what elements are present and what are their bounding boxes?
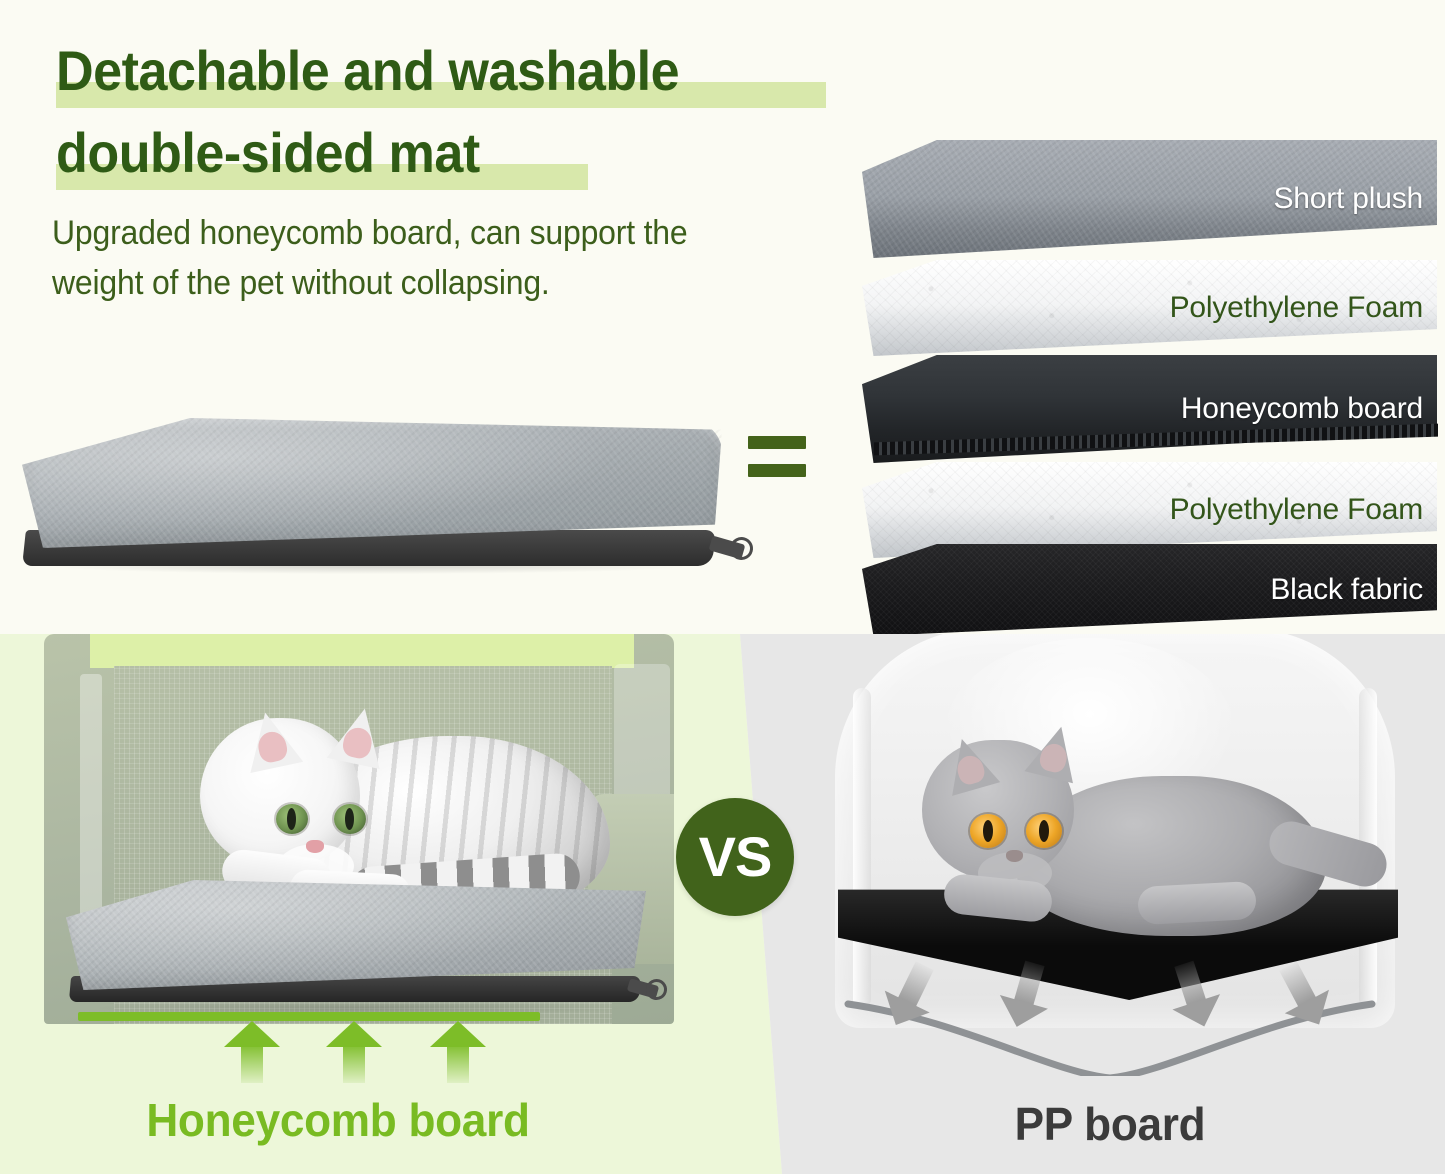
support-line [78, 1012, 540, 1021]
up-arrow-icon [224, 1021, 280, 1083]
cat-rear-leg [1137, 881, 1257, 925]
mat-product-image [14, 400, 734, 590]
equals-sign-icon [748, 436, 808, 478]
arrow-stem [447, 1043, 469, 1083]
up-arrow-icon [326, 1021, 382, 1083]
cat-head [922, 740, 1074, 880]
cat-ear-right [1024, 721, 1085, 784]
layer-stack-diagram: Short plush Polyethylene Foam Honeycomb … [862, 140, 1437, 572]
cat-eye-left [970, 814, 1006, 848]
zipper-ring [727, 534, 755, 562]
cat-nose [306, 840, 324, 853]
sag-indicator-right [840, 986, 1380, 1086]
layer-label-black-fabric: Black fabric [1270, 574, 1423, 606]
cat-eye-right [334, 804, 366, 834]
cat-ear-inner [1038, 741, 1070, 774]
comparison-panel-left: Honeycomb board [0, 634, 800, 1174]
cat-ear-inner [341, 725, 375, 760]
layer-honeycomb-board: Honeycomb board [862, 355, 1437, 463]
layer-short-plush: Short plush [862, 140, 1437, 258]
cat-ear-left [239, 707, 303, 773]
cat-ear-inner [954, 753, 987, 787]
layer-label-honeycomb-board: Honeycomb board [1181, 393, 1423, 425]
subheadline: Upgraded honeycomb board, can support th… [52, 208, 785, 308]
flat-honeycomb-mat [62, 874, 657, 1024]
comparison-section: Honeycomb board [0, 634, 1445, 1174]
layer-label-foam-top: Polyethylene Foam [1170, 292, 1423, 324]
up-arrow-icon [430, 1021, 486, 1083]
layer-black-fabric: Black fabric [862, 544, 1437, 636]
comparison-label-right: PP board [870, 1098, 1350, 1150]
top-section: Detachable and washable double-sided mat… [0, 0, 1445, 636]
headline-line-2: double-sided mat [56, 116, 876, 198]
vs-badge: VS [676, 798, 794, 916]
cat-ear-right [327, 703, 391, 769]
grey-shorthair-cat [888, 706, 1358, 956]
cat-nose [1006, 850, 1023, 862]
cat-eye-left [276, 804, 308, 834]
layer-polyethylene-foam-top: Polyethylene Foam [862, 260, 1437, 356]
equals-bar-top [748, 436, 806, 449]
vs-badge-text: VS [699, 829, 772, 885]
headline-line-1: Detachable and washable [56, 34, 876, 116]
layer-label-foam-bottom: Polyethylene Foam [1170, 494, 1423, 526]
zipper-icon [704, 536, 750, 570]
support-indicator-left [78, 1012, 548, 1082]
cat-ear-inner [256, 729, 290, 764]
zipper-icon [624, 978, 668, 1008]
zipper-ring [644, 977, 670, 1003]
arrow-stem [241, 1043, 263, 1083]
equals-bar-bottom [748, 464, 806, 477]
cat-ear-left [938, 732, 1000, 796]
mat-plush-texture [66, 880, 646, 990]
arrow-stem [343, 1043, 365, 1083]
carrier-top-band [90, 634, 634, 668]
headline: Detachable and washable double-sided mat [56, 34, 876, 198]
comparison-label-left: Honeycomb board [88, 1094, 587, 1146]
cat-head [200, 718, 360, 868]
arrow-head [993, 995, 1048, 1034]
layer-label-short-plush: Short plush [1273, 183, 1423, 215]
headline-text-1: Detachable and washable [56, 34, 819, 108]
product-infographic: Detachable and washable double-sided mat… [0, 0, 1445, 1174]
mat-plush-texture [22, 418, 722, 548]
cat-eye-right [1026, 814, 1062, 848]
headline-text-2: double-sided mat [56, 116, 819, 190]
